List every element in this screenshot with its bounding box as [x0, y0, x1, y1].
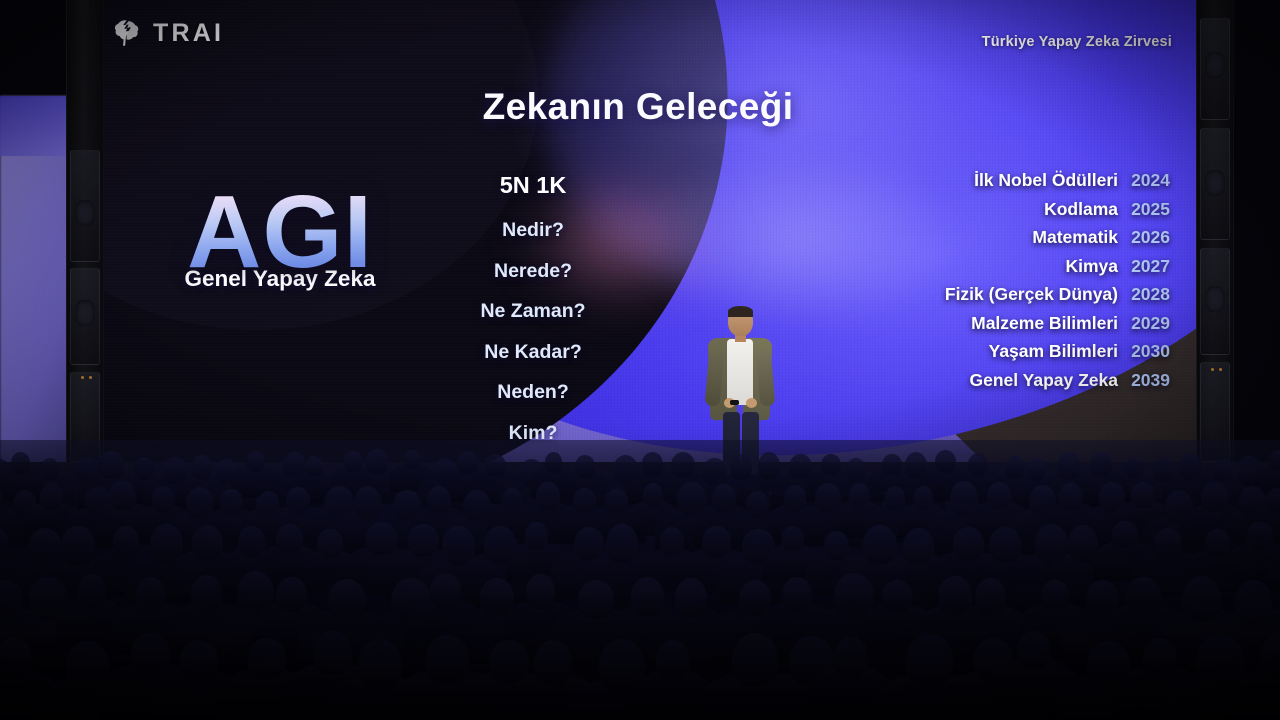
audience-member-head [536, 482, 560, 510]
audience-member-head [220, 489, 243, 515]
audience-member-head [246, 451, 265, 472]
audience-member-head [849, 483, 870, 508]
timeline-year: 2026 [1118, 227, 1170, 248]
timeline-row: Yaşam Bilimleri 2030 [945, 341, 1170, 362]
audience-member-head [98, 451, 124, 478]
audience-member-head [136, 577, 165, 611]
audience-member-head [11, 452, 29, 474]
audience-member-head [113, 526, 139, 557]
audience-member-head [675, 578, 707, 617]
timeline-year: 2029 [1118, 313, 1170, 334]
audience-member-head [631, 577, 664, 616]
audience-member-head [313, 631, 351, 674]
agi-block: AGI Genel Yapay Zeka [130, 185, 430, 292]
audience-member-head [1126, 577, 1160, 614]
timeline-row: Kimya 2027 [945, 256, 1170, 277]
audience-member-head [1112, 521, 1137, 548]
audience-member-head [781, 526, 804, 552]
audience-member-head [846, 458, 866, 482]
audience-member-head [975, 578, 1006, 616]
timeline-list: İlk Nobel Ödülleri 2024 Kodlama 2025 Mat… [945, 170, 1170, 398]
audience-member-head [1214, 459, 1233, 481]
timeline-year: 2025 [1118, 199, 1170, 220]
question-item: Ne Kadar? [448, 341, 618, 364]
conference-stage-photo: TRAI Türkiye Yapay Zeka Zirvesi Zekanın … [0, 0, 1280, 720]
audience-member-head [882, 454, 901, 475]
timeline-label: Fizik (Gerçek Dünya) [945, 284, 1118, 305]
audience-member-head [1125, 457, 1143, 478]
audience-member-head [545, 452, 563, 473]
audience-member-head [1059, 483, 1082, 510]
audience-member-head [824, 531, 849, 561]
audience-member-head [1005, 456, 1025, 479]
audience-member-head [502, 488, 522, 511]
timeline-row: Matematik 2026 [945, 227, 1170, 248]
timeline-label: Malzeme Bilimleri [971, 313, 1118, 334]
audience-member-head [834, 637, 868, 677]
audience-member-head [660, 527, 684, 556]
audience-member-head [276, 577, 306, 612]
audience-member-head [656, 640, 690, 682]
audience-member-head [180, 640, 218, 682]
audience-member-head [485, 454, 506, 476]
timeline-label: Genel Yapay Zeka [969, 370, 1118, 391]
trai-logo: TRAI [112, 18, 224, 48]
audience-member-head [1182, 576, 1221, 621]
audience-member-head [987, 482, 1011, 509]
audience-member-head [885, 486, 906, 512]
timeline-label: Kodlama [1044, 199, 1118, 220]
audience-member-head [109, 481, 136, 510]
event-name: Türkiye Yapay Zeka Zirvesi [982, 34, 1172, 50]
audience-member-head [914, 486, 934, 510]
audience-member-head [758, 452, 781, 480]
audience-member-head [152, 486, 175, 512]
timeline-label: Kimya [1065, 256, 1118, 277]
audience-member-head [935, 450, 956, 473]
audience-member-head [1090, 452, 1112, 477]
slide-title: Zekanın Geleceği [68, 86, 1208, 128]
audience-member-head [317, 529, 343, 558]
audience-member-head [78, 574, 106, 609]
audience-member-head [191, 575, 223, 612]
agi-acronym: AGI [130, 185, 430, 280]
presenter-clicker [730, 400, 739, 405]
audience-member-head [1027, 458, 1046, 482]
audience-member-head [286, 487, 310, 513]
audience-member-head [366, 449, 389, 474]
audience-member-head [41, 458, 59, 479]
audience-member-head [671, 452, 695, 478]
audience-member-head [1205, 529, 1230, 558]
audience-member-head [573, 488, 596, 513]
audience-member-head [712, 484, 736, 512]
timeline-year: 2028 [1118, 284, 1170, 305]
audience-member-head [789, 454, 812, 479]
left-speaker-stack [66, 0, 104, 470]
audience-member-head [191, 455, 212, 480]
audience-member-head [1269, 450, 1280, 471]
audience-member-head [489, 640, 529, 683]
audience-member-head [702, 526, 731, 557]
audience-member-head [1017, 631, 1052, 669]
audience-member-head [366, 522, 397, 555]
questions-heading: 5N 1K [448, 172, 618, 199]
main-led-screen: TRAI Türkiye Yapay Zeka Zirvesi Zekanın … [68, 0, 1208, 462]
audience-member-head [430, 573, 461, 610]
audience-member-head [882, 580, 912, 613]
audience-member-head [328, 579, 366, 621]
question-item: Ne Zaman? [448, 300, 618, 323]
audience-member-head [643, 483, 663, 507]
audience-member-head [1154, 528, 1183, 559]
audience-member-head [0, 637, 32, 680]
audience-member-head [426, 635, 469, 682]
timeline-label: İlk Nobel Ödülleri [974, 170, 1118, 191]
question-item: Nerede? [448, 260, 618, 283]
audience-member-head [605, 489, 628, 513]
audience-member-head [1179, 453, 1201, 479]
audience-member-head [642, 452, 664, 476]
audience-member-head [1266, 488, 1280, 513]
audience-member-head [192, 525, 223, 560]
audience-member-head [821, 454, 840, 475]
audience-member-head [248, 638, 285, 679]
audience-member-head [1143, 638, 1176, 677]
audience-member-head [784, 485, 807, 511]
audience-member-head [40, 483, 63, 509]
questions-column: 5N 1K Nedir? Nerede? Ne Zaman? Ne Kadar?… [448, 172, 618, 462]
audience-member-head [131, 633, 169, 674]
timeline-year: 2030 [1118, 341, 1170, 362]
brain-icon [112, 18, 142, 48]
audience-member-head [358, 639, 402, 690]
timeline-label: Matematik [1032, 227, 1118, 248]
question-item: Neden? [448, 381, 618, 404]
audience-member-head [404, 450, 421, 469]
audience-member-head [276, 524, 303, 554]
audience-member-head [732, 633, 777, 685]
audience-member-head [134, 457, 154, 481]
audience-member-head [968, 453, 988, 476]
timeline-row: Kodlama 2025 [945, 199, 1170, 220]
timeline-label: Yaşam Bilimleri [989, 341, 1118, 362]
timeline-row: Genel Yapay Zeka 2039 [945, 370, 1170, 391]
audience-member-head [606, 524, 638, 563]
audience [0, 440, 1280, 720]
audience-member-head [1041, 580, 1069, 611]
audience-member-head [1247, 522, 1273, 549]
audience-member-head [746, 491, 769, 519]
side-screen-panel-top [0, 96, 70, 156]
audience-member-head [534, 640, 571, 685]
audience-member-head [408, 524, 439, 557]
audience-member-head [782, 577, 812, 611]
audience-member-head [906, 634, 953, 687]
audience-member-head [305, 456, 323, 477]
brand-wordmark: TRAI [153, 19, 224, 48]
timeline-year: 2024 [1118, 170, 1170, 191]
timeline-year: 2027 [1118, 256, 1170, 277]
right-speaker-stack [1196, 0, 1234, 470]
audience-member-head [1131, 482, 1154, 507]
audience-member-head [354, 486, 381, 519]
timeline-year: 2039 [1118, 370, 1170, 391]
audience-member-head [526, 574, 555, 609]
audience-member-head [575, 455, 595, 477]
timeline-row: İlk Nobel Ödülleri 2024 [945, 170, 1170, 191]
timeline-row: Fizik (Gerçek Dünya) 2028 [945, 284, 1170, 305]
question-item: Nedir? [448, 219, 618, 242]
audience-member-head [457, 451, 478, 474]
audience-member-head [525, 522, 549, 549]
audience-member-head [989, 527, 1021, 562]
audience-member-head [61, 526, 95, 566]
audience-member-head [427, 486, 451, 514]
audience-member-head [903, 528, 934, 565]
audience-member-head [1201, 482, 1228, 512]
audience-member-head [578, 580, 614, 618]
timeline-row: Malzeme Bilimleri 2029 [945, 313, 1170, 334]
